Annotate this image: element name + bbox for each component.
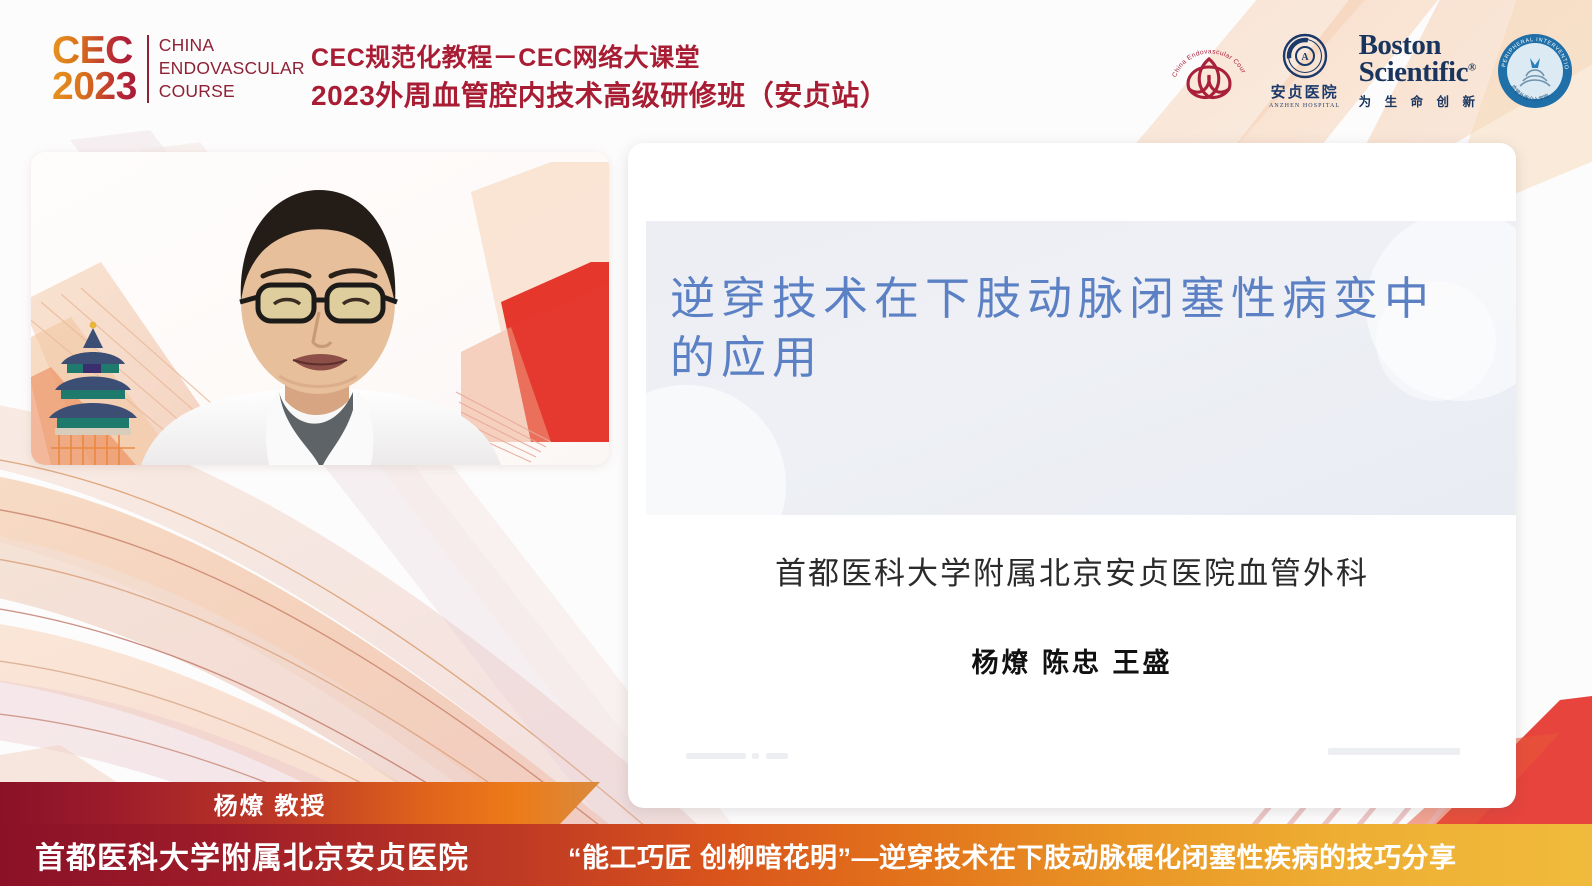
svg-text:A: A [1301, 52, 1309, 63]
cec-brand-logo: CEC 2023 CHINA ENDOVASCULAR COURSE [52, 33, 305, 105]
session-topic-ticker: “能工巧匠 创柳暗花明”—逆穿技术在下肢动脉硬化闭塞性疾病的技巧分享 [568, 824, 1457, 886]
slide-title-block: 逆穿技术在下肢动脉闭塞性病变中的应用 [646, 221, 1516, 515]
slide-footer-mark-2 [752, 753, 759, 759]
event-title-line-1: CEC规范化教程－CEC网络大课堂 [311, 40, 888, 76]
speaker-affiliation-label: 首都医科大学附属北京安贞医院 [35, 824, 469, 886]
peripheral-intervention-institute-logo: PERIPHERAL INTERVENTION INSTITUTE 血管外周介入… [1496, 28, 1574, 114]
anzhen-crest-icon: A [1277, 33, 1333, 79]
anzhen-hospital-logo: A 安贞医院 ANZHEN HOSPITAL [1267, 28, 1343, 114]
bottom-info-bar: 首都医科大学附属北京安贞医院 “能工巧匠 创柳暗花明”—逆穿技术在下肢动脉硬化闭… [0, 824, 1592, 886]
slide-panel[interactable]: 逆穿技术在下肢动脉闭塞性病变中的应用 首都医科大学附属北京安贞医院血管外科 杨燎… [628, 143, 1516, 808]
sponsor-logo-row: China Endovascular Course [1167, 28, 1574, 114]
cec-acronym: CEC [52, 33, 137, 69]
event-title: CEC规范化教程－CEC网络大课堂 2023外周血管腔内技术高级研修班（安贞站） [311, 40, 888, 116]
slide-authors: 杨燎 陈忠 王盛 [628, 641, 1516, 680]
slide-footer-mark-1 [686, 753, 746, 759]
video-frame [31, 152, 609, 465]
cec-year: 2023 [52, 69, 137, 105]
boston-scientific-word-2: Scientific® [1359, 59, 1476, 87]
speaker-video-tile[interactable] [31, 152, 609, 465]
page-header: CEC 2023 CHINA ENDOVASCULAR COURSE CEC规范… [0, 0, 1592, 137]
cec-logo-divider [147, 35, 149, 103]
registered-mark-icon: ® [1468, 61, 1476, 73]
boston-scientific-logo: Boston Scientific® 为 生 命 创 新 [1359, 28, 1480, 114]
cec-brand-line-2: ENDOVASCULAR [159, 57, 305, 80]
cec-lotus-logo: China Endovascular Course [1167, 28, 1251, 114]
slide-title: 逆穿技术在下肢动脉闭塞性病变中的应用 [670, 269, 1470, 388]
svg-text:China Endovascular Course: China Endovascular Course [1167, 29, 1247, 78]
cec-brand-line-3: COURSE [159, 80, 305, 103]
boston-scientific-word-1: Boston [1359, 32, 1441, 59]
slide-footer-mark-3 [766, 753, 788, 759]
cec-brand-mark: CEC 2023 [52, 33, 137, 105]
slide-footer-mark-4 [1328, 748, 1460, 755]
anzhen-hospital-en: ANZHEN HOSPITAL [1269, 103, 1340, 109]
anzhen-hospital-cn: 安贞医院 [1271, 81, 1339, 102]
event-title-line-2: 2023外周血管腔内技术高级研修班（安贞站） [311, 76, 888, 116]
speaker-name-band: 杨燎 教授 [0, 782, 600, 824]
slide-organization: 首都医科大学附属北京安贞医院血管外科 [628, 548, 1516, 593]
boston-scientific-word-2-text: Scientific [1359, 56, 1468, 88]
decorative-blob-3 [646, 385, 786, 515]
presentation-stage: CEC 2023 CHINA ENDOVASCULAR COURSE CEC规范… [0, 0, 1592, 886]
cec-brand-fullname: CHINA ENDOVASCULAR COURSE [159, 33, 305, 105]
speaker-name-label: 杨燎 教授 [0, 782, 540, 824]
cec-lotus-arc-text: China Endovascular Course [1167, 29, 1247, 78]
boston-scientific-tagline: 为 生 命 创 新 [1359, 91, 1480, 110]
cec-brand-line-1: CHINA [159, 34, 305, 57]
